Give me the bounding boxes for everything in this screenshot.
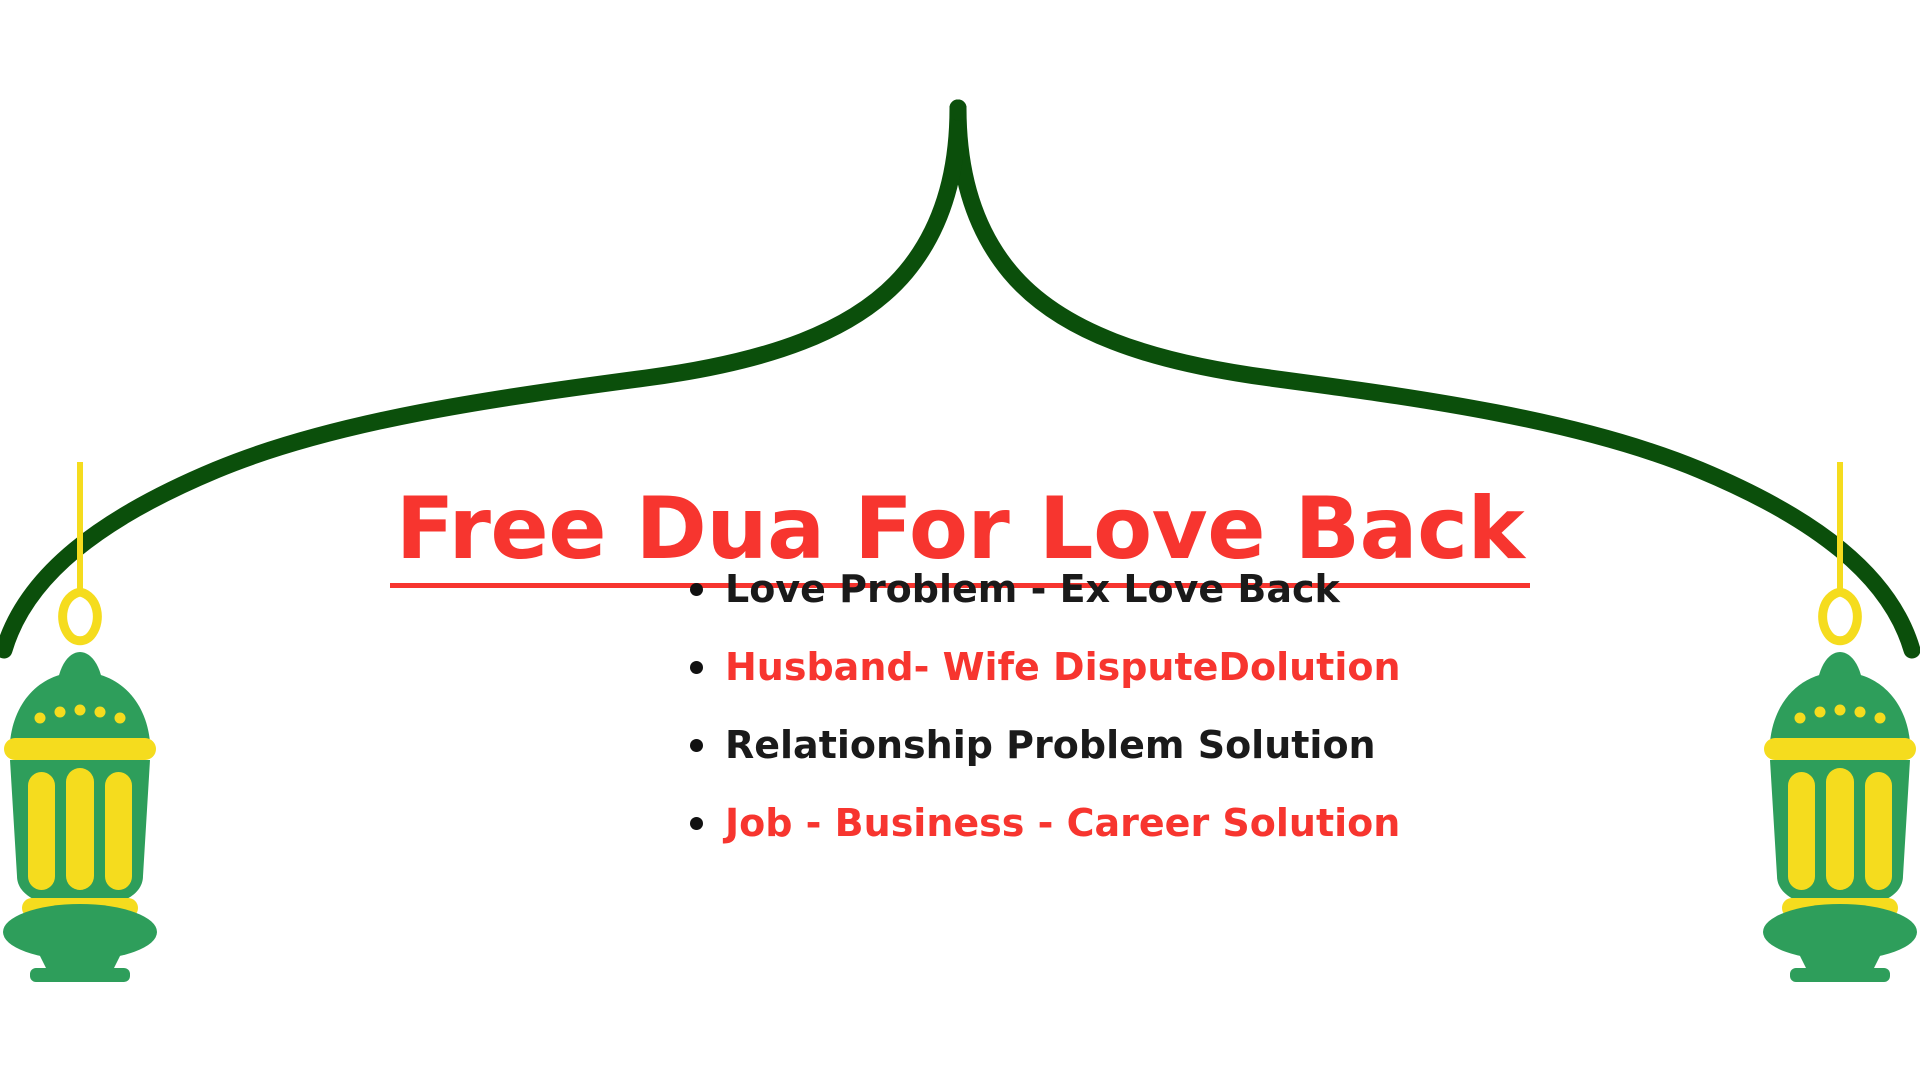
bullet-dot-icon: [690, 661, 703, 674]
list-item: Husband- Wife DisputeDolution: [570, 648, 1350, 688]
list-item: Relationship Problem Solution: [570, 726, 1350, 766]
list-item-label: Husband- Wife DisputeDolution: [725, 648, 1401, 688]
list-item: Love Problem - Ex Love Back: [570, 570, 1350, 610]
list-item-label: Job - Business - Career Solution: [725, 804, 1400, 844]
bullet-dot-icon: [690, 583, 703, 596]
bullet-dot-icon: [690, 817, 703, 830]
list-item-label: Relationship Problem Solution: [725, 726, 1376, 766]
poster-canvas: Free Dua For Love Back Love Problem - Ex…: [0, 0, 1920, 1080]
service-list: Love Problem - Ex Love Back Husband- Wif…: [0, 570, 1920, 882]
list-item: Job - Business - Career Solution: [570, 804, 1350, 844]
list-item-label: Love Problem - Ex Love Back: [725, 570, 1340, 610]
bullet-dot-icon: [690, 739, 703, 752]
